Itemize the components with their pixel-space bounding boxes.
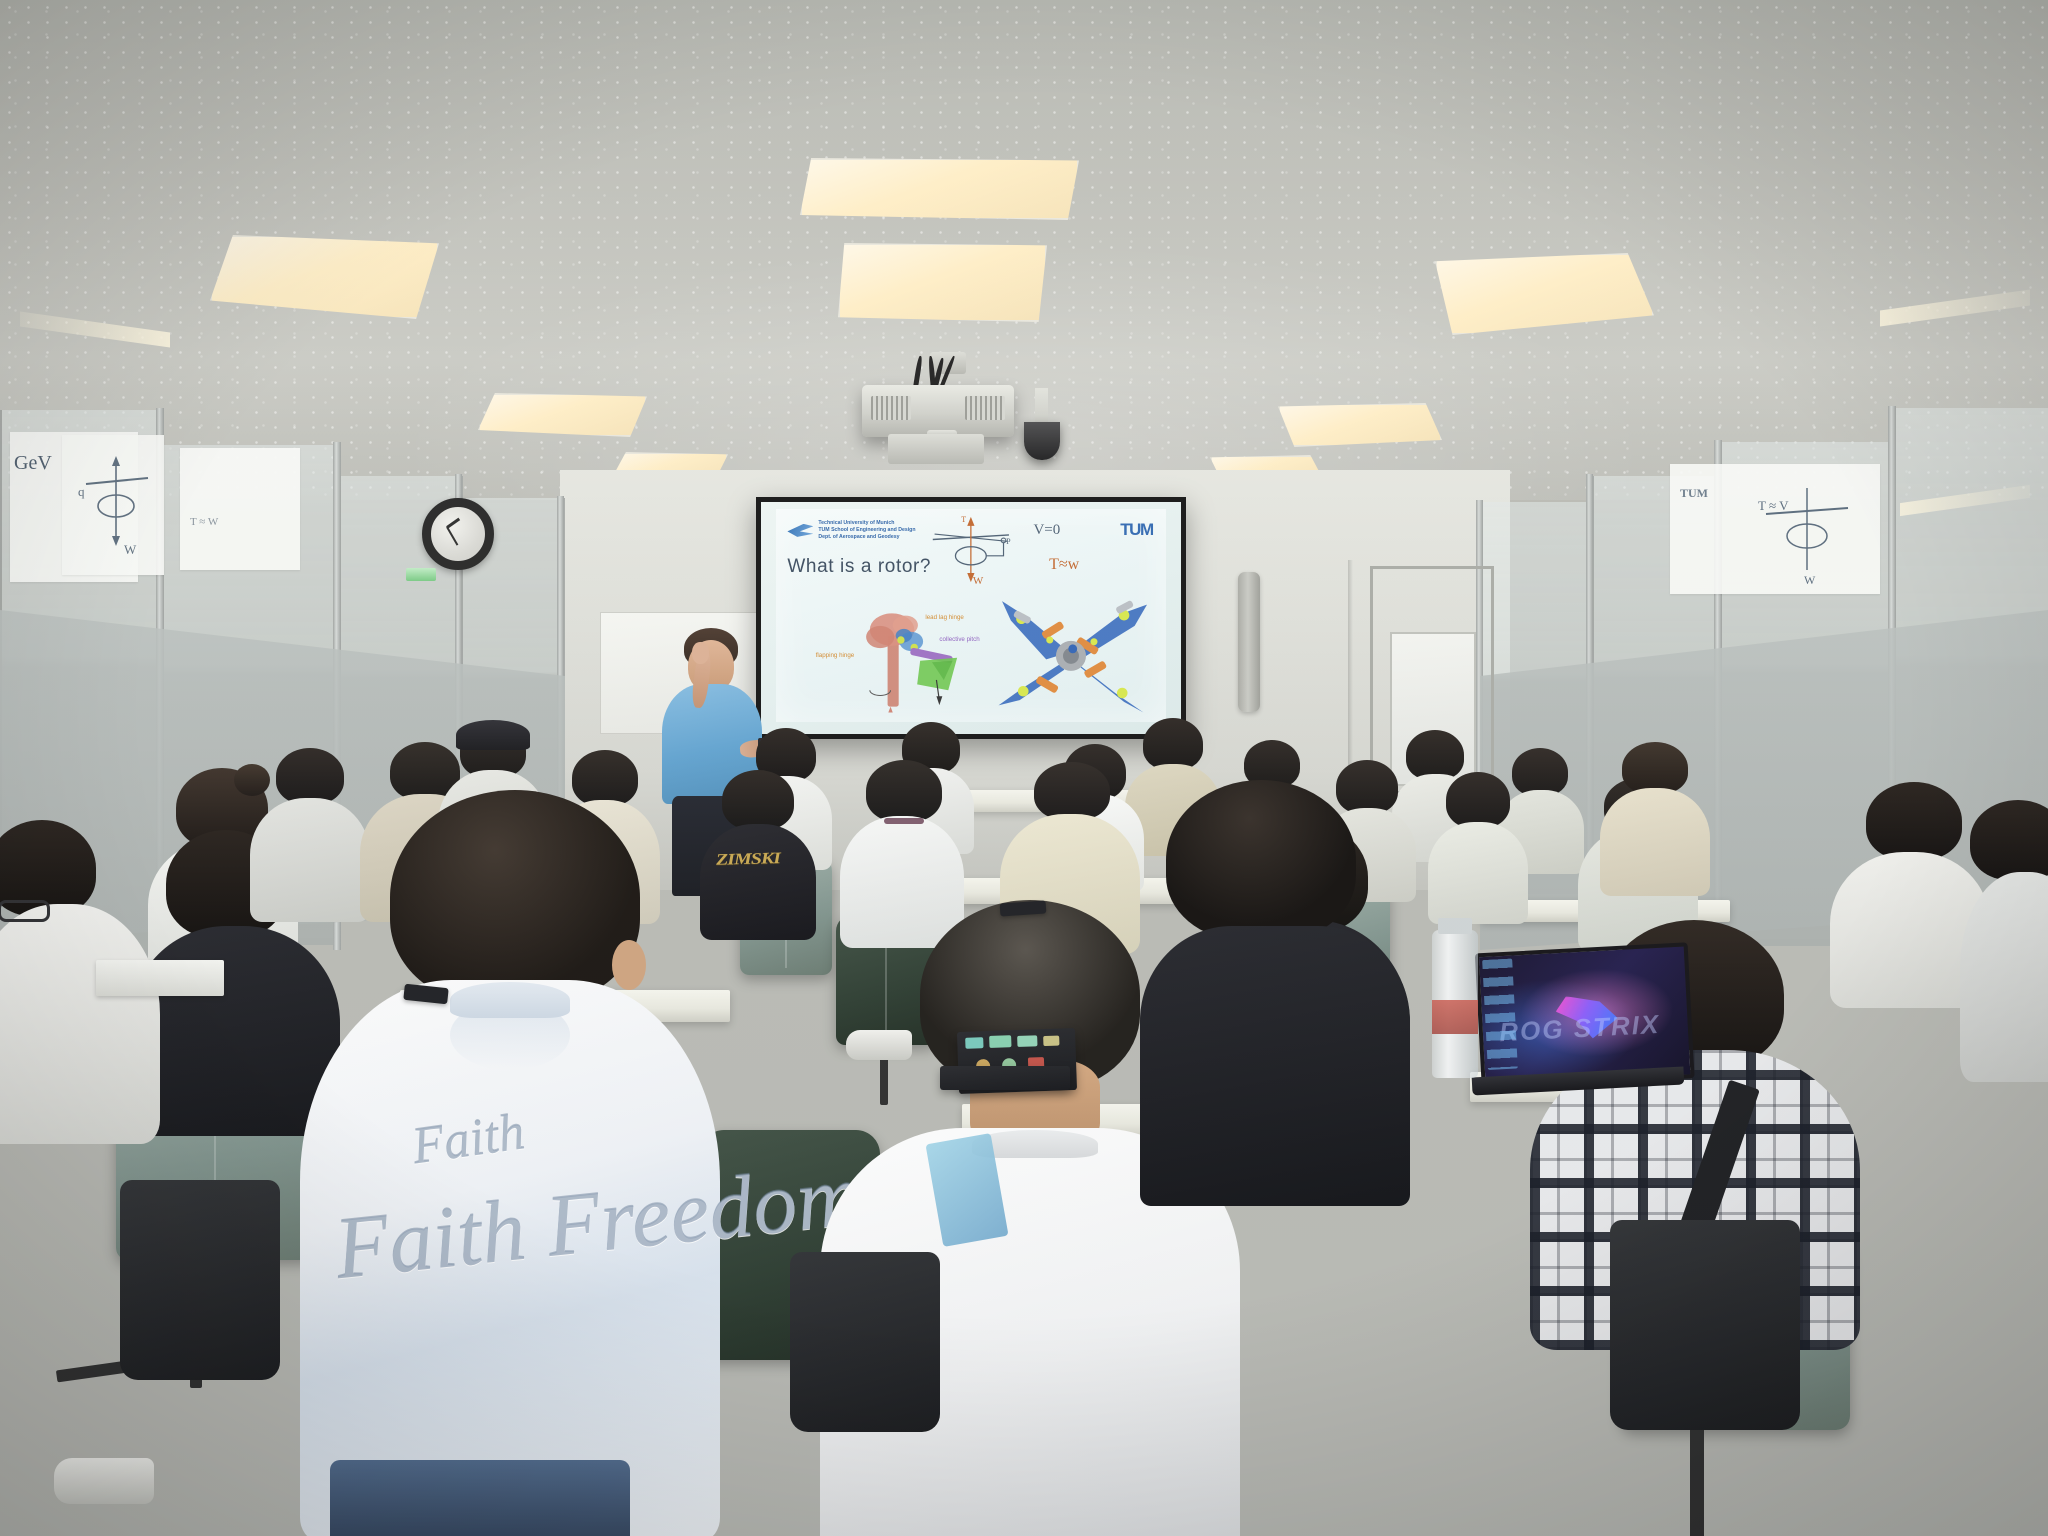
water-bottle-cap (1438, 918, 1472, 934)
eyeglasses (0, 900, 50, 922)
annotation-thrust-arrow-label: T (961, 515, 966, 524)
student-hair (1970, 800, 2048, 880)
desktop-icons (1482, 959, 1518, 1070)
screen-surface: Technical University of MunichTUM School… (761, 502, 1181, 734)
asus-rog-laptop[interactable]: ROG STRIX (1475, 943, 1686, 1082)
rotor-cad-render (987, 594, 1155, 718)
jacket-collar (450, 982, 570, 1018)
annotation-weight-arrow-label: W (973, 575, 983, 587)
student-ear (612, 940, 646, 990)
annotation-p-label: P (1006, 537, 1010, 546)
student-hair (1143, 718, 1203, 770)
slide: Technical University of MunichTUM School… (776, 509, 1167, 722)
closed-laptop-left[interactable] (940, 1066, 1070, 1090)
student-hair (1622, 742, 1688, 794)
chair-leg-right-far (1690, 1428, 1704, 1536)
projector-lower-housing (888, 434, 984, 464)
student-right-back-2 (1600, 742, 1710, 892)
whiteboard-left-second-text: T ≈ W (190, 516, 218, 528)
student-hair-bowl (1166, 780, 1356, 940)
student-torso (1960, 872, 2048, 1082)
rog-strix-wordmark: ROG STRIX (1499, 1009, 1661, 1048)
sticker-3 (1017, 1035, 1037, 1047)
sticker-1 (965, 1037, 983, 1049)
shoe-aisle-2 (54, 1458, 154, 1504)
student-row-b-4 (1428, 772, 1528, 922)
student-foreground-white-jacket: Faith Faith Freedom (300, 790, 720, 1536)
student-hair (866, 760, 942, 822)
dark-cap (456, 720, 530, 750)
rotor-hub-diagram: lead lag hinge collective pitch flapping… (838, 603, 979, 714)
notebook-on-left-desk[interactable] (96, 960, 224, 996)
whiteboard-left-text: GeV (14, 452, 52, 475)
student-torso (0, 904, 160, 1144)
label-lead-lag-hinge: lead lag hinge (925, 614, 964, 621)
annotation-v-equals-zero: V=0 (1033, 522, 1060, 539)
whiteboard-rotor-sketch-left: W q (72, 448, 160, 558)
dark-shirt-torso (1140, 926, 1410, 1206)
ceiling-projector (862, 385, 1014, 437)
student-hair (722, 770, 794, 830)
sticker-2 (989, 1035, 1011, 1048)
exit-sign-left (406, 568, 436, 581)
wall-speaker-panel (1238, 572, 1260, 712)
lecture-hall-photo: GeV W q T ≈ W TUM (0, 0, 2048, 1536)
light-panel-center-mid (838, 243, 1047, 322)
wall-clock (422, 498, 494, 570)
svg-text:W: W (124, 542, 137, 557)
light-panel-center-front (800, 158, 1079, 220)
student-hair (1034, 762, 1110, 820)
backpack-under-desk (790, 1252, 940, 1432)
shoe-aisle (846, 1030, 912, 1060)
shoulder-bag (1610, 1220, 1800, 1430)
black-tee-graphic: ZIMSKI (716, 849, 781, 869)
projector-vent-right (965, 396, 1005, 419)
svg-text:q: q (78, 484, 85, 499)
student-torso (1428, 822, 1528, 924)
annotation-thrust-weight: T≈w (1049, 556, 1079, 574)
student-hair-large (390, 790, 640, 1005)
student-foreground-dark-shirt (1140, 780, 1410, 1200)
water-bottle-label (1432, 1000, 1478, 1034)
sticker-4 (1043, 1036, 1059, 1047)
backpack-left (120, 1180, 280, 1380)
lanyard (884, 818, 924, 824)
student-hair (1446, 772, 1510, 828)
svg-text:W: W (1804, 573, 1816, 584)
projector-vent-left (871, 396, 911, 419)
projection-screen: Technical University of MunichTUM School… (756, 497, 1186, 739)
student-right-edge (1960, 800, 2048, 1080)
slide-title: What is a rotor? (787, 556, 931, 578)
whiteboard-right-tum: TUM (1680, 486, 1708, 501)
jeans-foreground (330, 1460, 630, 1536)
aerospace-logo-icon (787, 524, 813, 537)
whiteboard-rotor-sketch-right: T ≈ V W (1752, 474, 1862, 584)
whiteboard-left-second-room (180, 448, 300, 570)
presenter-hand-raised (692, 642, 709, 664)
slide-org-logo: Technical University of MunichTUM School… (787, 520, 915, 542)
student-torso (1600, 788, 1710, 896)
student-hair (1866, 782, 1962, 860)
tum-brand-logo: TUM (1120, 520, 1152, 540)
light-panel-right-mid (1278, 403, 1442, 447)
svg-text:T ≈ V: T ≈ V (1758, 498, 1789, 513)
ceiling-camera (1024, 422, 1060, 460)
label-flapping-hinge: flapping hinge (816, 652, 855, 659)
slide-org-logo-text: Technical University of MunichTUM School… (818, 520, 915, 542)
label-collective-pitch: collective pitch (939, 636, 979, 643)
annotation-helicopter-sketch (924, 515, 1018, 588)
